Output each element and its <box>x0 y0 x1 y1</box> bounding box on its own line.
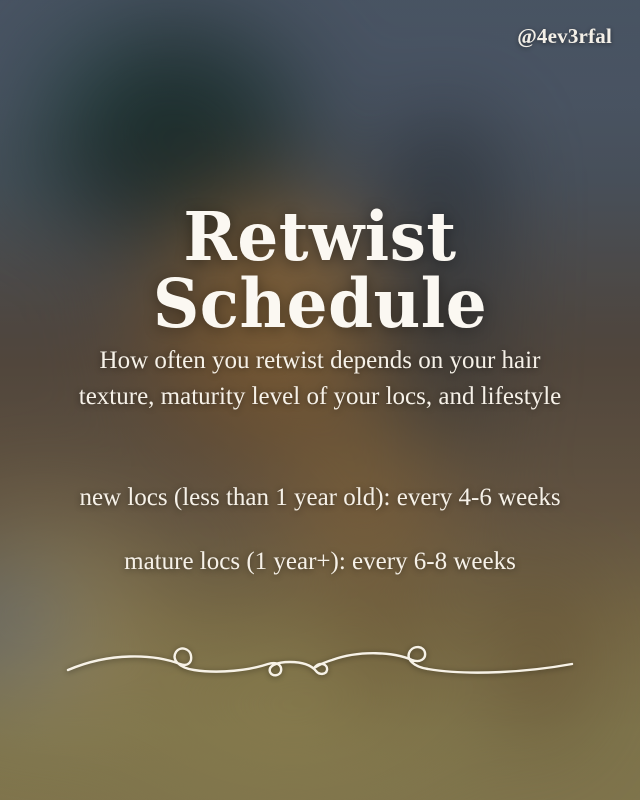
page-title: Retwist Schedule <box>13 203 627 337</box>
schedule-line-new-locs: new locs (less than 1 year old): every 4… <box>40 482 600 515</box>
retwist-schedule-poster: @4ev3rfal Retwist Schedule How often you… <box>0 0 640 800</box>
schedule-line-mature-locs: mature locs (1 year+): every 6-8 weeks <box>40 546 600 579</box>
poster-content: @4ev3rfal Retwist Schedule How often you… <box>0 0 640 800</box>
intro-paragraph: How often you retwist depends on your ha… <box>74 343 566 414</box>
swirl-flourish-divider-icon <box>50 628 590 698</box>
account-handle: @4ev3rfal <box>517 24 612 49</box>
